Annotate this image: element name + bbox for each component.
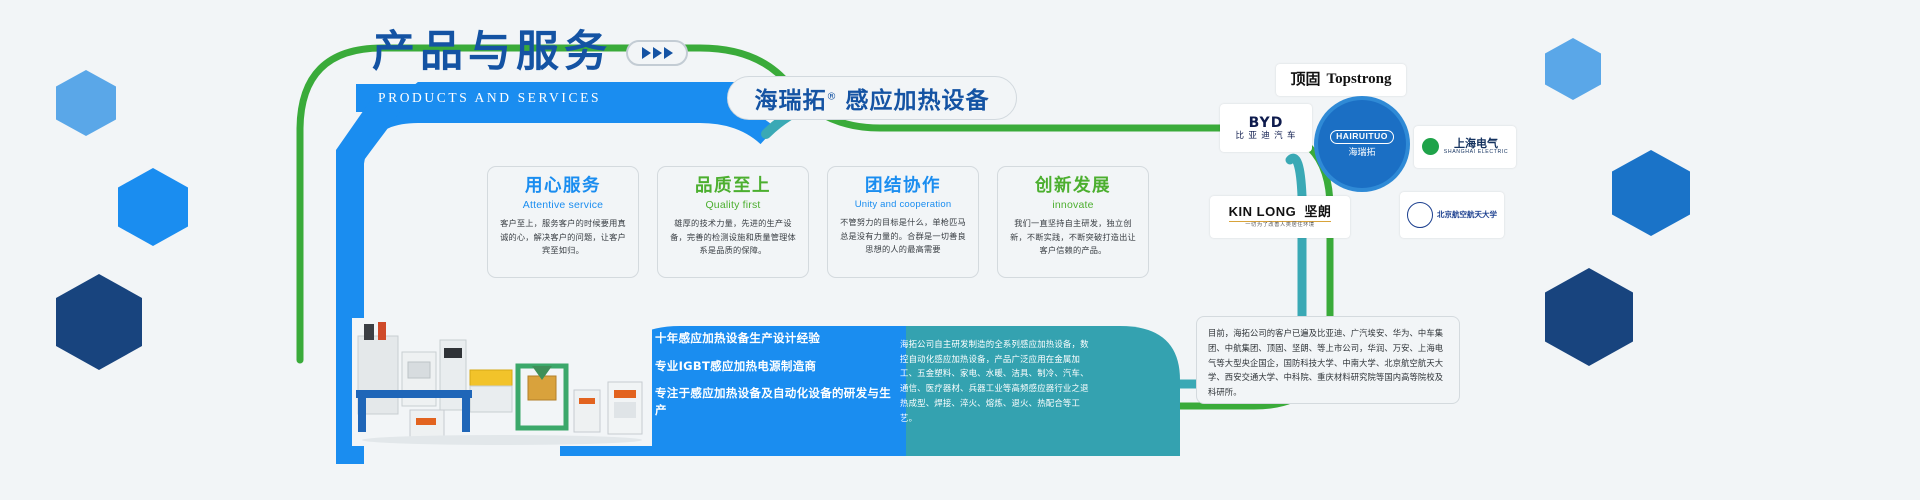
card-body: 客户至上，服务客户的时候要用真诚的心，解决客户的问题，让客户宾至如归。 bbox=[497, 217, 629, 257]
logo-hairuituo-cn: 海瑞拓 bbox=[1330, 147, 1394, 157]
card-subtitle: Unity and cooperation bbox=[837, 199, 969, 210]
brand-product: 感应加热设备 bbox=[846, 81, 990, 115]
card-title: 用心服务 bbox=[497, 177, 629, 196]
list-item: 专业IGBT感应加热电源制造商 bbox=[640, 358, 900, 375]
logo-kinlong-cn: 坚朗 bbox=[1304, 204, 1331, 219]
page-title-group: 产品与服务 bbox=[372, 30, 688, 75]
logo-shanghai-electric: 上海电气 SHANGHAI ELECTRIC bbox=[1414, 126, 1516, 168]
hexagon-decor-3 bbox=[56, 274, 142, 370]
feature-bullets: 十年感应加热设备生产设计经验 专业IGBT感应加热电源制造商 专注于感应加热设备… bbox=[640, 330, 900, 430]
logo-topstrong-en: Topstrong bbox=[1326, 71, 1391, 88]
hexagon-decor-4 bbox=[1545, 38, 1601, 100]
card-body: 我们一直坚持自主研发，独立创新，不断实践，不断突破打造出让客户信赖的产品。 bbox=[1007, 217, 1139, 257]
logo-shanghai-electric-en: SHANGHAI ELECTRIC bbox=[1444, 150, 1508, 156]
customers-panel: 目前，海拓公司的客户已遍及比亚迪、广汽埃安、华为、中车集团、中航集团、顶固、坚朗… bbox=[1196, 316, 1460, 404]
logo-byd: BYD 比 亚 迪 汽 车 bbox=[1220, 104, 1312, 152]
logo-topstrong-cn: 顶固 bbox=[1290, 71, 1320, 88]
value-card[interactable]: 团结协作 Unity and cooperation 不管努力的目标是什么，单枪… bbox=[827, 166, 979, 278]
card-body: 雄厚的技术力量，先进的生产设备，完善的检测设施和质量管理体系是品质的保障。 bbox=[667, 217, 799, 257]
hexagon-decor-1 bbox=[56, 70, 116, 136]
value-card[interactable]: 用心服务 Attentive service 客户至上，服务客户的时候要用真诚的… bbox=[487, 166, 639, 278]
company-description: 海拓公司自主研发制造的全系列感应加热设备，数控自动化感应加热设备，产品广泛应用在… bbox=[900, 337, 1090, 425]
page-title-text: 产品与服务 bbox=[372, 30, 612, 75]
brand-name: 海瑞拓® bbox=[755, 81, 838, 115]
logo-kinlong: KIN LONG 坚朗 一切为了改善人类居住环境 bbox=[1210, 196, 1350, 238]
value-cards: 用心服务 Attentive service 客户至上，服务客户的时候要用真诚的… bbox=[487, 166, 1149, 278]
logo-hairuituo: HAIRUITUO 海瑞拓 bbox=[1318, 100, 1406, 188]
card-title: 创新发展 bbox=[1007, 177, 1139, 196]
brand-badge: 海瑞拓® 感应加热设备 bbox=[727, 76, 1017, 120]
registered-mark-icon: ® bbox=[827, 91, 838, 102]
shanghai-electric-mark-icon bbox=[1422, 138, 1439, 155]
logo-kinlong-slogan: 一切为了改善人类居住环境 bbox=[1229, 221, 1332, 229]
logo-kinlong-en: KIN LONG bbox=[1229, 204, 1297, 219]
card-subtitle: Attentive service bbox=[497, 199, 629, 211]
triple-chevron-right-icon bbox=[626, 40, 688, 66]
logo-buaa-cn: 北京航空航天大学 bbox=[1437, 211, 1497, 220]
logo-topstrong: 顶固 Topstrong bbox=[1276, 64, 1406, 96]
hexagon-decor-2 bbox=[118, 168, 188, 246]
list-item: 十年感应加热设备生产设计经验 bbox=[640, 330, 900, 347]
card-title: 团结协作 bbox=[837, 177, 969, 196]
equipment-photo bbox=[352, 318, 652, 446]
value-card[interactable]: 创新发展 innovate 我们一直坚持自主研发，独立创新，不断实践，不断突破打… bbox=[997, 166, 1149, 278]
card-title: 品质至上 bbox=[667, 177, 799, 196]
logo-hairuituo-en: HAIRUITUO bbox=[1330, 130, 1394, 144]
logo-buaa: 北京航空航天大学 bbox=[1400, 192, 1504, 238]
poster-stage: 产品与服务 PRODUCTS AND SERVICES 海瑞拓® 感应加热设备 … bbox=[0, 0, 1920, 500]
card-subtitle: innovate bbox=[1007, 199, 1139, 211]
card-subtitle: Quality first bbox=[667, 199, 799, 211]
buaa-crest-icon bbox=[1407, 202, 1433, 228]
logo-byd-en: BYD bbox=[1236, 115, 1297, 131]
value-card[interactable]: 品质至上 Quality first 雄厚的技术力量，先进的生产设备，完善的检测… bbox=[657, 166, 809, 278]
hexagon-decor-6 bbox=[1545, 268, 1633, 366]
logo-byd-cn: 比 亚 迪 汽 车 bbox=[1236, 131, 1297, 141]
page-subtitle: PRODUCTS AND SERVICES bbox=[378, 90, 601, 106]
hexagon-decor-5 bbox=[1612, 150, 1690, 236]
list-item: 专注于感应加热设备及自动化设备的研发与生产 bbox=[640, 385, 900, 418]
page-title: 产品与服务 bbox=[372, 30, 688, 75]
card-body: 不管努力的目标是什么，单枪匹马总是没有力量的。合群是一切善良思想的人的最高需要 bbox=[837, 216, 969, 256]
